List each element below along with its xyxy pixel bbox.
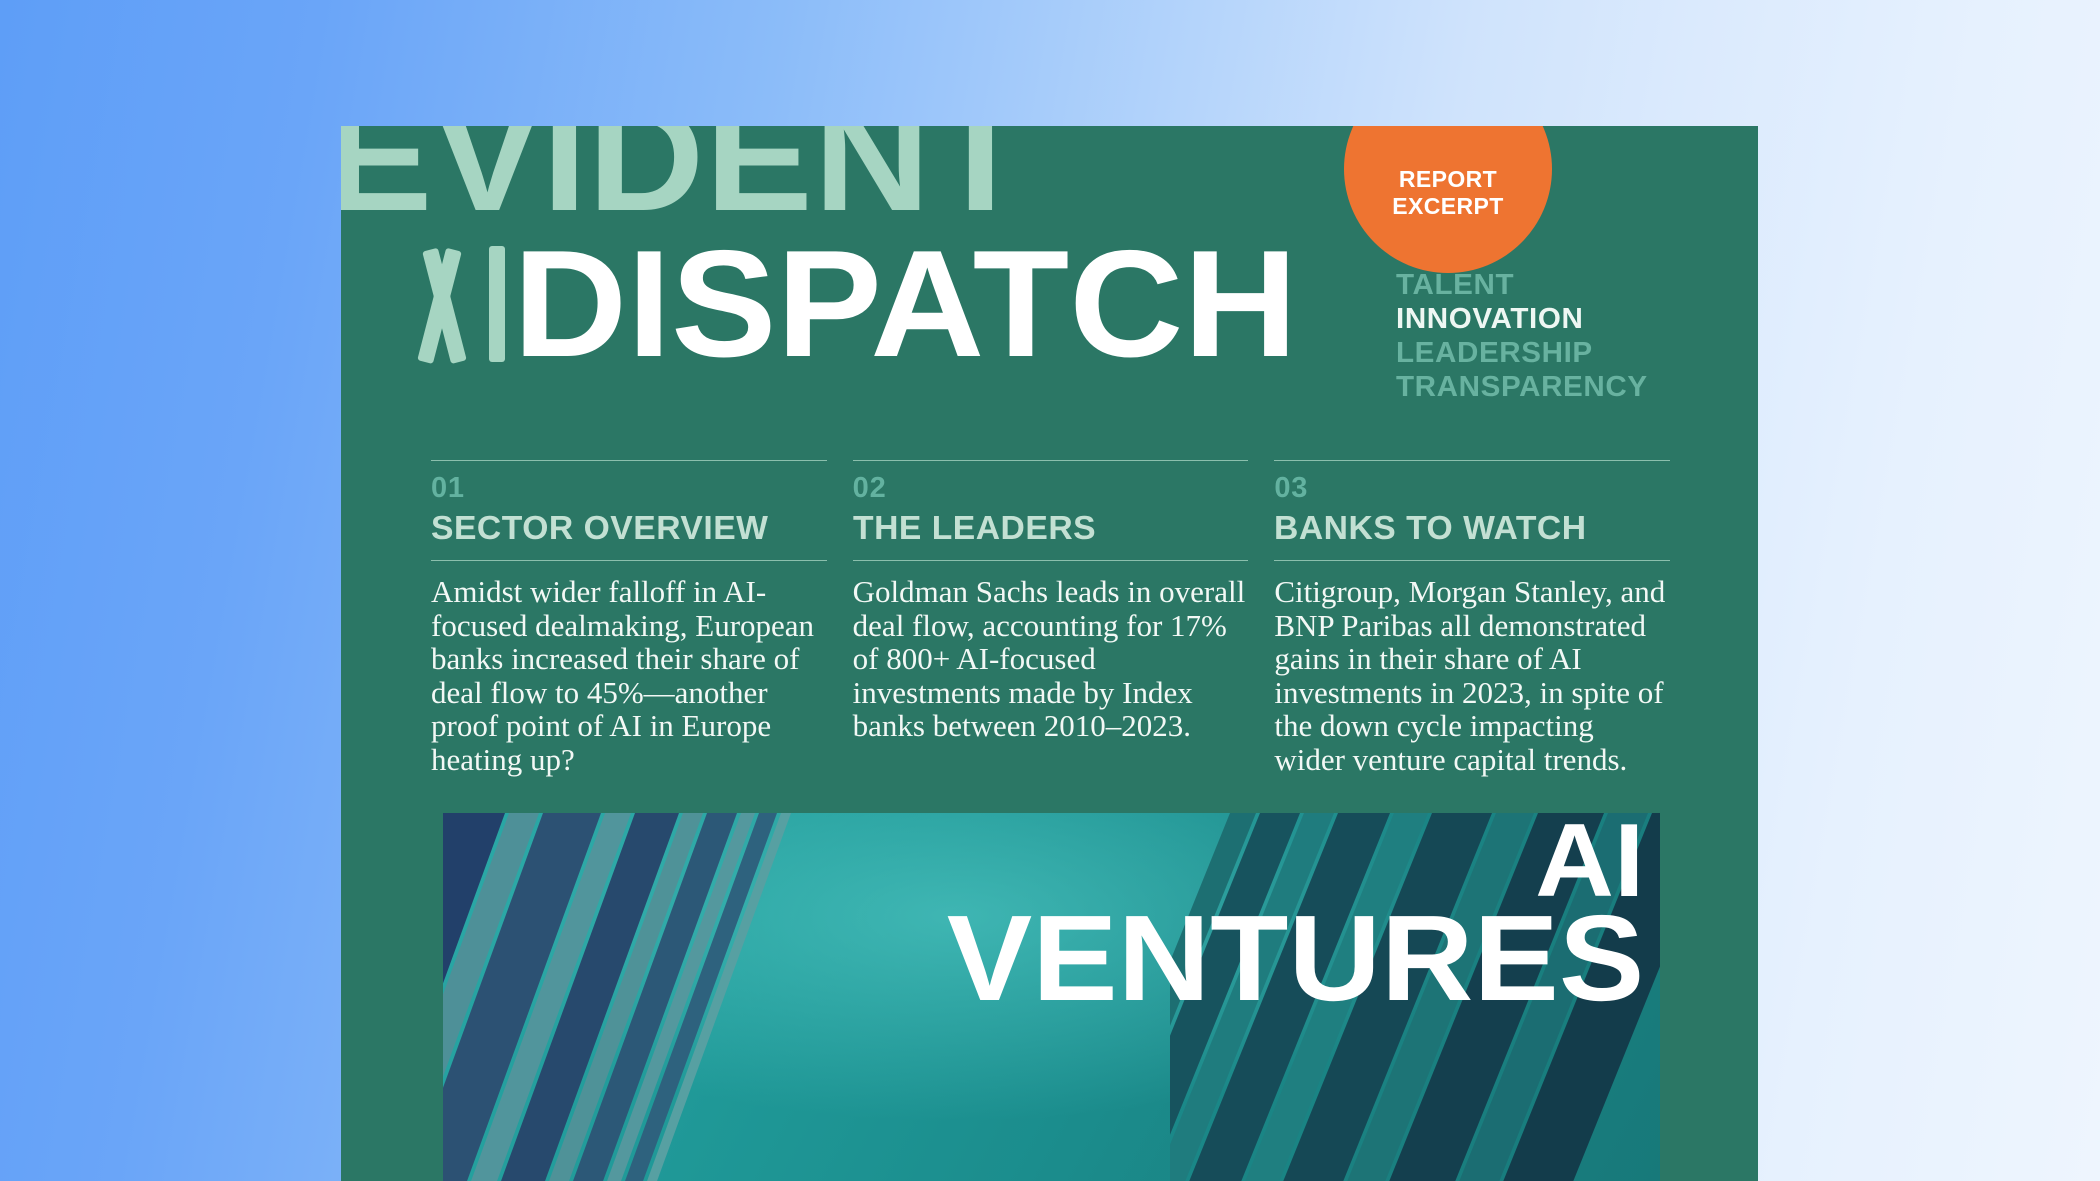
ai-lambda-logo-icon — [399, 246, 511, 362]
hero-image: AI VENTURES — [443, 813, 1660, 1181]
tagline-item-innovation: INNOVATION — [1396, 302, 1648, 336]
report-excerpt-badge: REPORT EXCERPT — [1344, 126, 1552, 273]
hero-headline-line-2: VENTURES — [946, 906, 1644, 1011]
ai-dispatch-lockup: DISPATCH — [399, 246, 1267, 362]
column-rule-top — [431, 460, 827, 461]
column-title: BANKS TO WATCH — [1274, 504, 1678, 560]
summary-columns: 01 SECTOR OVERVIEW Amidst wider falloff … — [431, 460, 1670, 776]
column-body: Amidst wider falloff in AI-focused dealm… — [431, 561, 827, 776]
column-rule-top — [853, 460, 1249, 461]
column-rule-top — [1274, 460, 1670, 461]
column-rule-bottom — [853, 560, 1249, 561]
column-rule-bottom — [1274, 560, 1670, 561]
dispatch-wordmark: DISPATCH — [513, 246, 1298, 362]
tagline-item-leadership: LEADERSHIP — [1396, 336, 1648, 370]
badge-line-2: EXCERPT — [1392, 193, 1503, 219]
column-title: THE LEADERS — [853, 504, 1257, 560]
evident-wordmark: EVIDENT — [341, 126, 1031, 234]
column-body: Goldman Sachs leads in overall deal flow… — [853, 561, 1249, 743]
column-title: SECTOR OVERVIEW — [431, 504, 835, 560]
brand-tagline-list: TALENT INNOVATION LEADERSHIP TRANSPARENC… — [1396, 268, 1648, 404]
badge-line-1: REPORT — [1399, 166, 1497, 192]
column-number: 01 — [431, 461, 827, 504]
column-body: Citigroup, Morgan Stanley, and BNP Parib… — [1274, 561, 1670, 776]
summary-column-03: 03 BANKS TO WATCH Citigroup, Morgan Stan… — [1274, 460, 1670, 776]
tagline-item-talent: TALENT — [1396, 268, 1648, 302]
hero-building-left — [443, 813, 803, 1181]
summary-column-02: 02 THE LEADERS Goldman Sachs leads in ov… — [853, 460, 1249, 776]
building-left-svg — [443, 813, 803, 1181]
tagline-item-transparency: TRANSPARENCY — [1396, 370, 1648, 404]
column-rule-bottom — [431, 560, 827, 561]
report-excerpt-badge-label: REPORT EXCERPT — [1392, 166, 1503, 220]
hero-headline: AI VENTURES — [980, 817, 1644, 1011]
column-number: 02 — [853, 461, 1249, 504]
column-number: 03 — [1274, 461, 1670, 504]
dispatch-cover: EVIDENT DISPATCH TALENT INNOVATION LEADE… — [0, 0, 2100, 1181]
summary-column-01: 01 SECTOR OVERVIEW Amidst wider falloff … — [431, 460, 827, 776]
green-panel: EVIDENT DISPATCH TALENT INNOVATION LEADE… — [341, 126, 1758, 1181]
